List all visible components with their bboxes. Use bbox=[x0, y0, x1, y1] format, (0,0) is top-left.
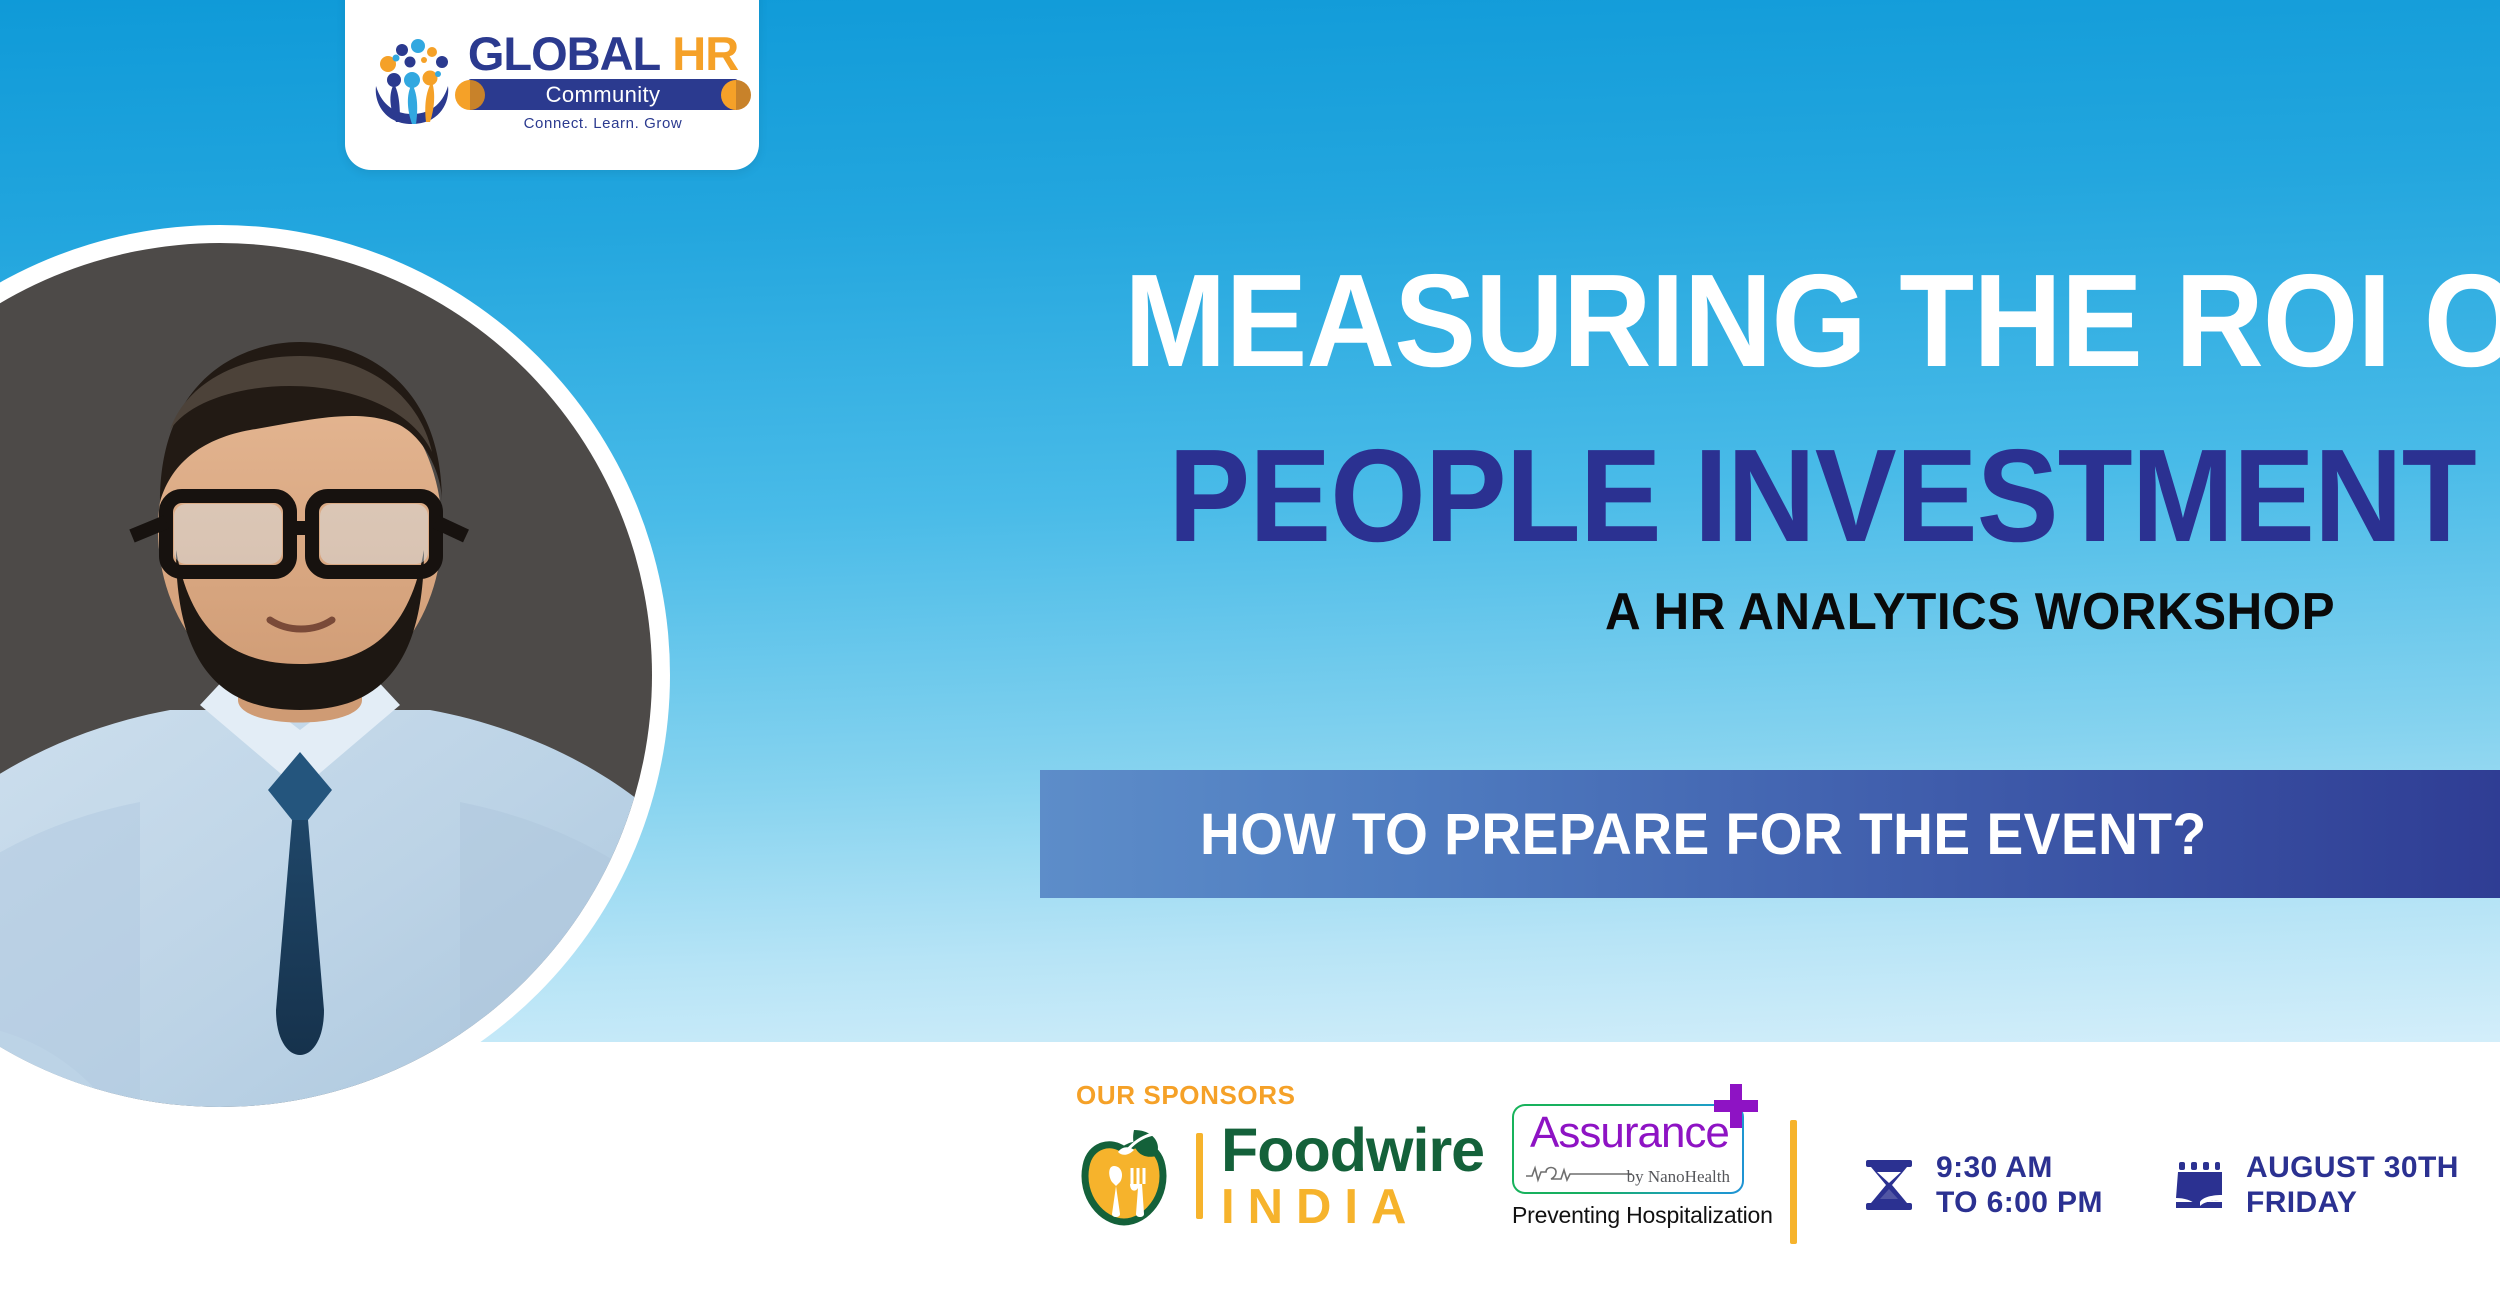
event-time: 9:30 AM TO 6:00 PM bbox=[1860, 1150, 2103, 1221]
sponsor-foodwire[interactable]: Foodwire INDIA bbox=[1070, 1120, 1484, 1232]
sponsors-label: OUR SPONSORS bbox=[1076, 1080, 1296, 1111]
headline-line-1: MEASURING THE ROI ON bbox=[1124, 255, 2298, 387]
calendar-icon bbox=[2170, 1156, 2228, 1214]
event-banner: GLOBAL HR Community Connect. Learn. Grow… bbox=[0, 0, 2500, 1306]
event-time-text: 9:30 AM TO 6:00 PM bbox=[1936, 1150, 2103, 1221]
assurance-byline: by NanoHealth bbox=[1627, 1167, 1730, 1187]
event-date-line1: AUGUST 30TH bbox=[2246, 1150, 2459, 1185]
portrait-photo bbox=[0, 130, 1150, 1306]
assurance-name: Assurance bbox=[1530, 1108, 1729, 1158]
logo-community-bar: Community bbox=[468, 79, 738, 110]
hourglass-icon bbox=[1860, 1156, 1918, 1214]
headline-subtitle: A HR ANALYTICS WORKSHOP bbox=[1143, 582, 2335, 642]
apple-fork-spoon-icon bbox=[1070, 1122, 1178, 1230]
logo-word-global: GLOBAL bbox=[468, 27, 660, 80]
cta-text: HOW TO PREPARE FOR THE EVENT? bbox=[1200, 801, 2207, 868]
event-date-text: AUGUST 30TH FRIDAY bbox=[2246, 1150, 2459, 1221]
foodwire-divider bbox=[1196, 1133, 1203, 1219]
logo-wordmark: GLOBAL HR bbox=[468, 32, 738, 77]
ecg-line-icon bbox=[1524, 1162, 1632, 1184]
assurance-logo-box: Assurance by NanoHealth bbox=[1512, 1104, 1744, 1194]
plus-icon bbox=[1714, 1084, 1758, 1128]
logo-dot-left-icon bbox=[455, 80, 485, 110]
person-illustration bbox=[0, 130, 1150, 1306]
foodwire-subname: INDIA bbox=[1221, 1183, 1484, 1232]
assurance-tagline: Preventing Hospitalization bbox=[1512, 1202, 1772, 1229]
event-date: AUGUST 30TH FRIDAY bbox=[2170, 1150, 2459, 1221]
headline-line-2: PEOPLE INVESTMENT bbox=[1168, 430, 2342, 562]
event-time-line1: 9:30 AM bbox=[1936, 1150, 2103, 1185]
global-hr-logo-icon bbox=[366, 36, 458, 128]
cta-banner: HOW TO PREPARE FOR THE EVENT? bbox=[1040, 770, 2500, 898]
footer-section: OUR SPONSORS Foodwire INDIA bbox=[1040, 1042, 2500, 1306]
global-hr-logo-card: GLOBAL HR Community Connect. Learn. Grow bbox=[345, 0, 759, 170]
event-time-line2: TO 6:00 PM bbox=[1936, 1185, 2103, 1220]
logo-community-text: Community bbox=[546, 82, 661, 108]
logo-tagline: Connect. Learn. Grow bbox=[468, 115, 738, 132]
logo-word-hr: HR bbox=[672, 27, 738, 80]
event-date-line2: FRIDAY bbox=[2246, 1185, 2459, 1220]
logo-dot-right-icon bbox=[721, 80, 751, 110]
sponsor-assurance[interactable]: Assurance by NanoHealth Preventing Hospi… bbox=[1512, 1104, 1772, 1229]
foodwire-name: Foodwire bbox=[1221, 1120, 1484, 1181]
footer-divider bbox=[1790, 1120, 1797, 1244]
